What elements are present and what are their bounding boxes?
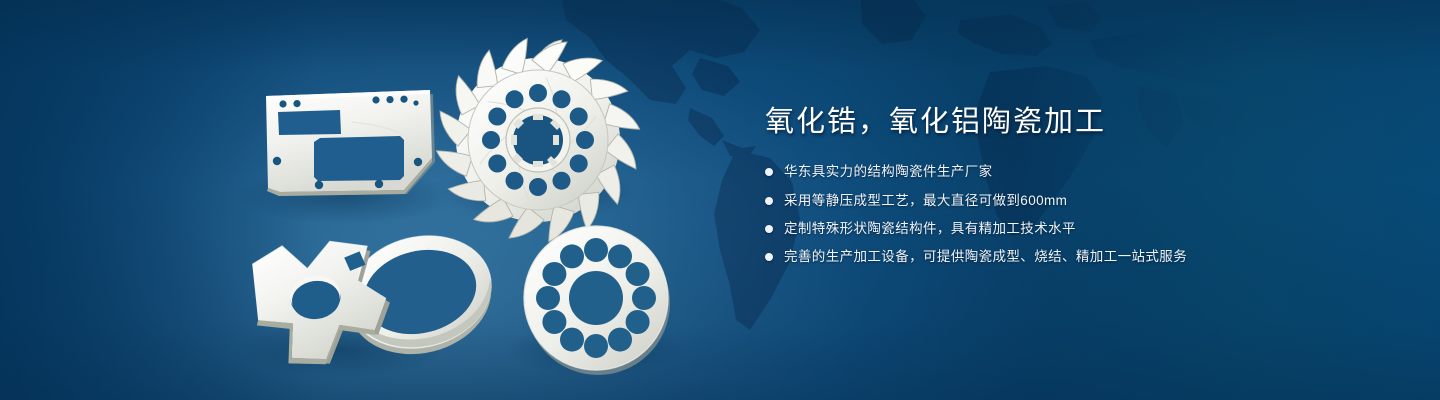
hero-banner: 氧化锆，氧化铝陶瓷加工 华东具实力的结构陶瓷件生产厂家 采用等静压成型工艺，最大… xyxy=(0,0,1440,400)
product-photo-group xyxy=(0,0,720,400)
list-item-label: 定制特殊形状陶瓷结构件，具有精加工技术水平 xyxy=(784,219,1076,239)
bullet-dot-icon xyxy=(765,168,773,176)
list-item: 采用等静压成型工艺，最大直径可做到600mm xyxy=(765,191,1385,211)
list-item-label: 采用等静压成型工艺，最大直径可做到600mm xyxy=(784,191,1067,211)
list-item: 华东具实力的结构陶瓷件生产厂家 xyxy=(765,162,1385,182)
bullet-dot-icon xyxy=(765,225,773,233)
list-item: 定制特殊形状陶瓷结构件，具有精加工技术水平 xyxy=(765,219,1385,239)
page-title: 氧化锆，氧化铝陶瓷加工 xyxy=(765,104,1385,140)
list-item-label: 完善的生产加工设备，可提供陶瓷成型、烧结、精加工一站式服务 xyxy=(784,247,1187,267)
ceramic-perforated-disc xyxy=(524,226,670,375)
list-item: 完善的生产加工设备，可提供陶瓷成型、烧结、精加工一站式服务 xyxy=(765,247,1385,267)
ceramic-mounting-plate xyxy=(266,90,435,196)
feature-list: 华东具实力的结构陶瓷件生产厂家 采用等静压成型工艺，最大直径可做到600mm 定… xyxy=(765,162,1385,267)
bullet-dot-icon xyxy=(765,253,773,261)
list-item-label: 华东具实力的结构陶瓷件生产厂家 xyxy=(784,162,993,182)
banner-copy: 氧化锆，氧化铝陶瓷加工 华东具实力的结构陶瓷件生产厂家 采用等静压成型工艺，最大… xyxy=(765,104,1385,275)
bullet-dot-icon xyxy=(765,197,773,205)
